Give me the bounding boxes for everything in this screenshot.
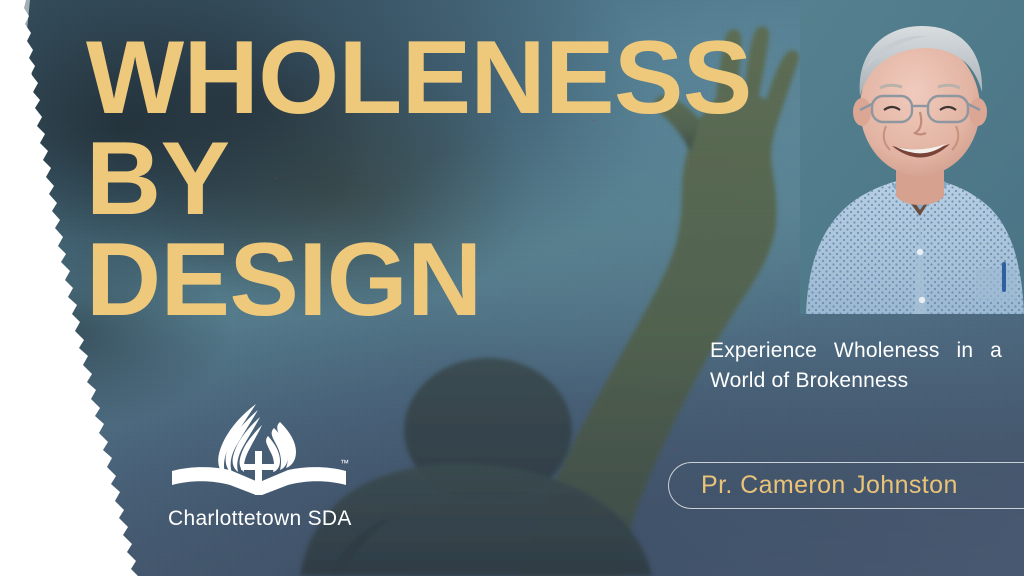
- organization-logo-block: ™ Charlottetown SDA: [168, 396, 350, 531]
- page-title: WHOLENESS BY DESIGN: [86, 28, 846, 331]
- torn-paper-edge: [0, 0, 150, 576]
- trademark-symbol: ™: [340, 458, 349, 468]
- poster-subtitle: Experience Wholeness in a World of Broke…: [710, 336, 1002, 397]
- speaker-name-pill: Pr. Cameron Johnston: [668, 462, 1024, 509]
- organization-name: Charlottetown SDA: [168, 507, 350, 531]
- poster-canvas: WHOLENESS BY DESIGN Experience Wholeness…: [0, 0, 1024, 576]
- speaker-name: Pr. Cameron Johnston: [701, 471, 958, 500]
- sda-flame-book-icon: ™: [168, 396, 350, 501]
